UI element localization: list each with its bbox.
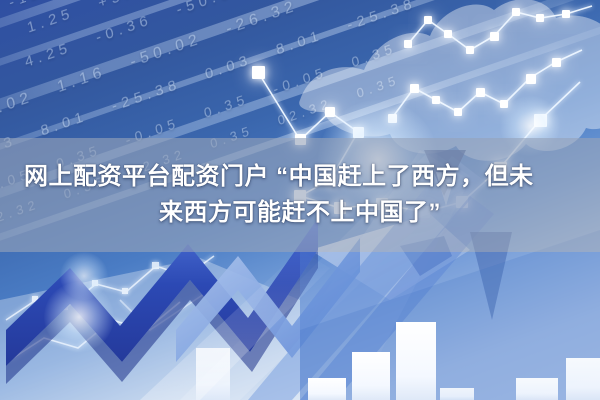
caption-line-1: 网上配资平台配资门户 “中国赶上了西方，但未 (18, 162, 582, 192)
stock-market-banner: -50.02-0.3621.6-50.02-0.3621.6-50.02-0.3… (0, 0, 600, 400)
caption-line-2: 来西方可能赶不上中国了” (18, 198, 582, 228)
caption-text-group: 网上配资平台配资门户 “中国赶上了西方，但未 来西方可能赶不上中国了” (0, 138, 600, 252)
